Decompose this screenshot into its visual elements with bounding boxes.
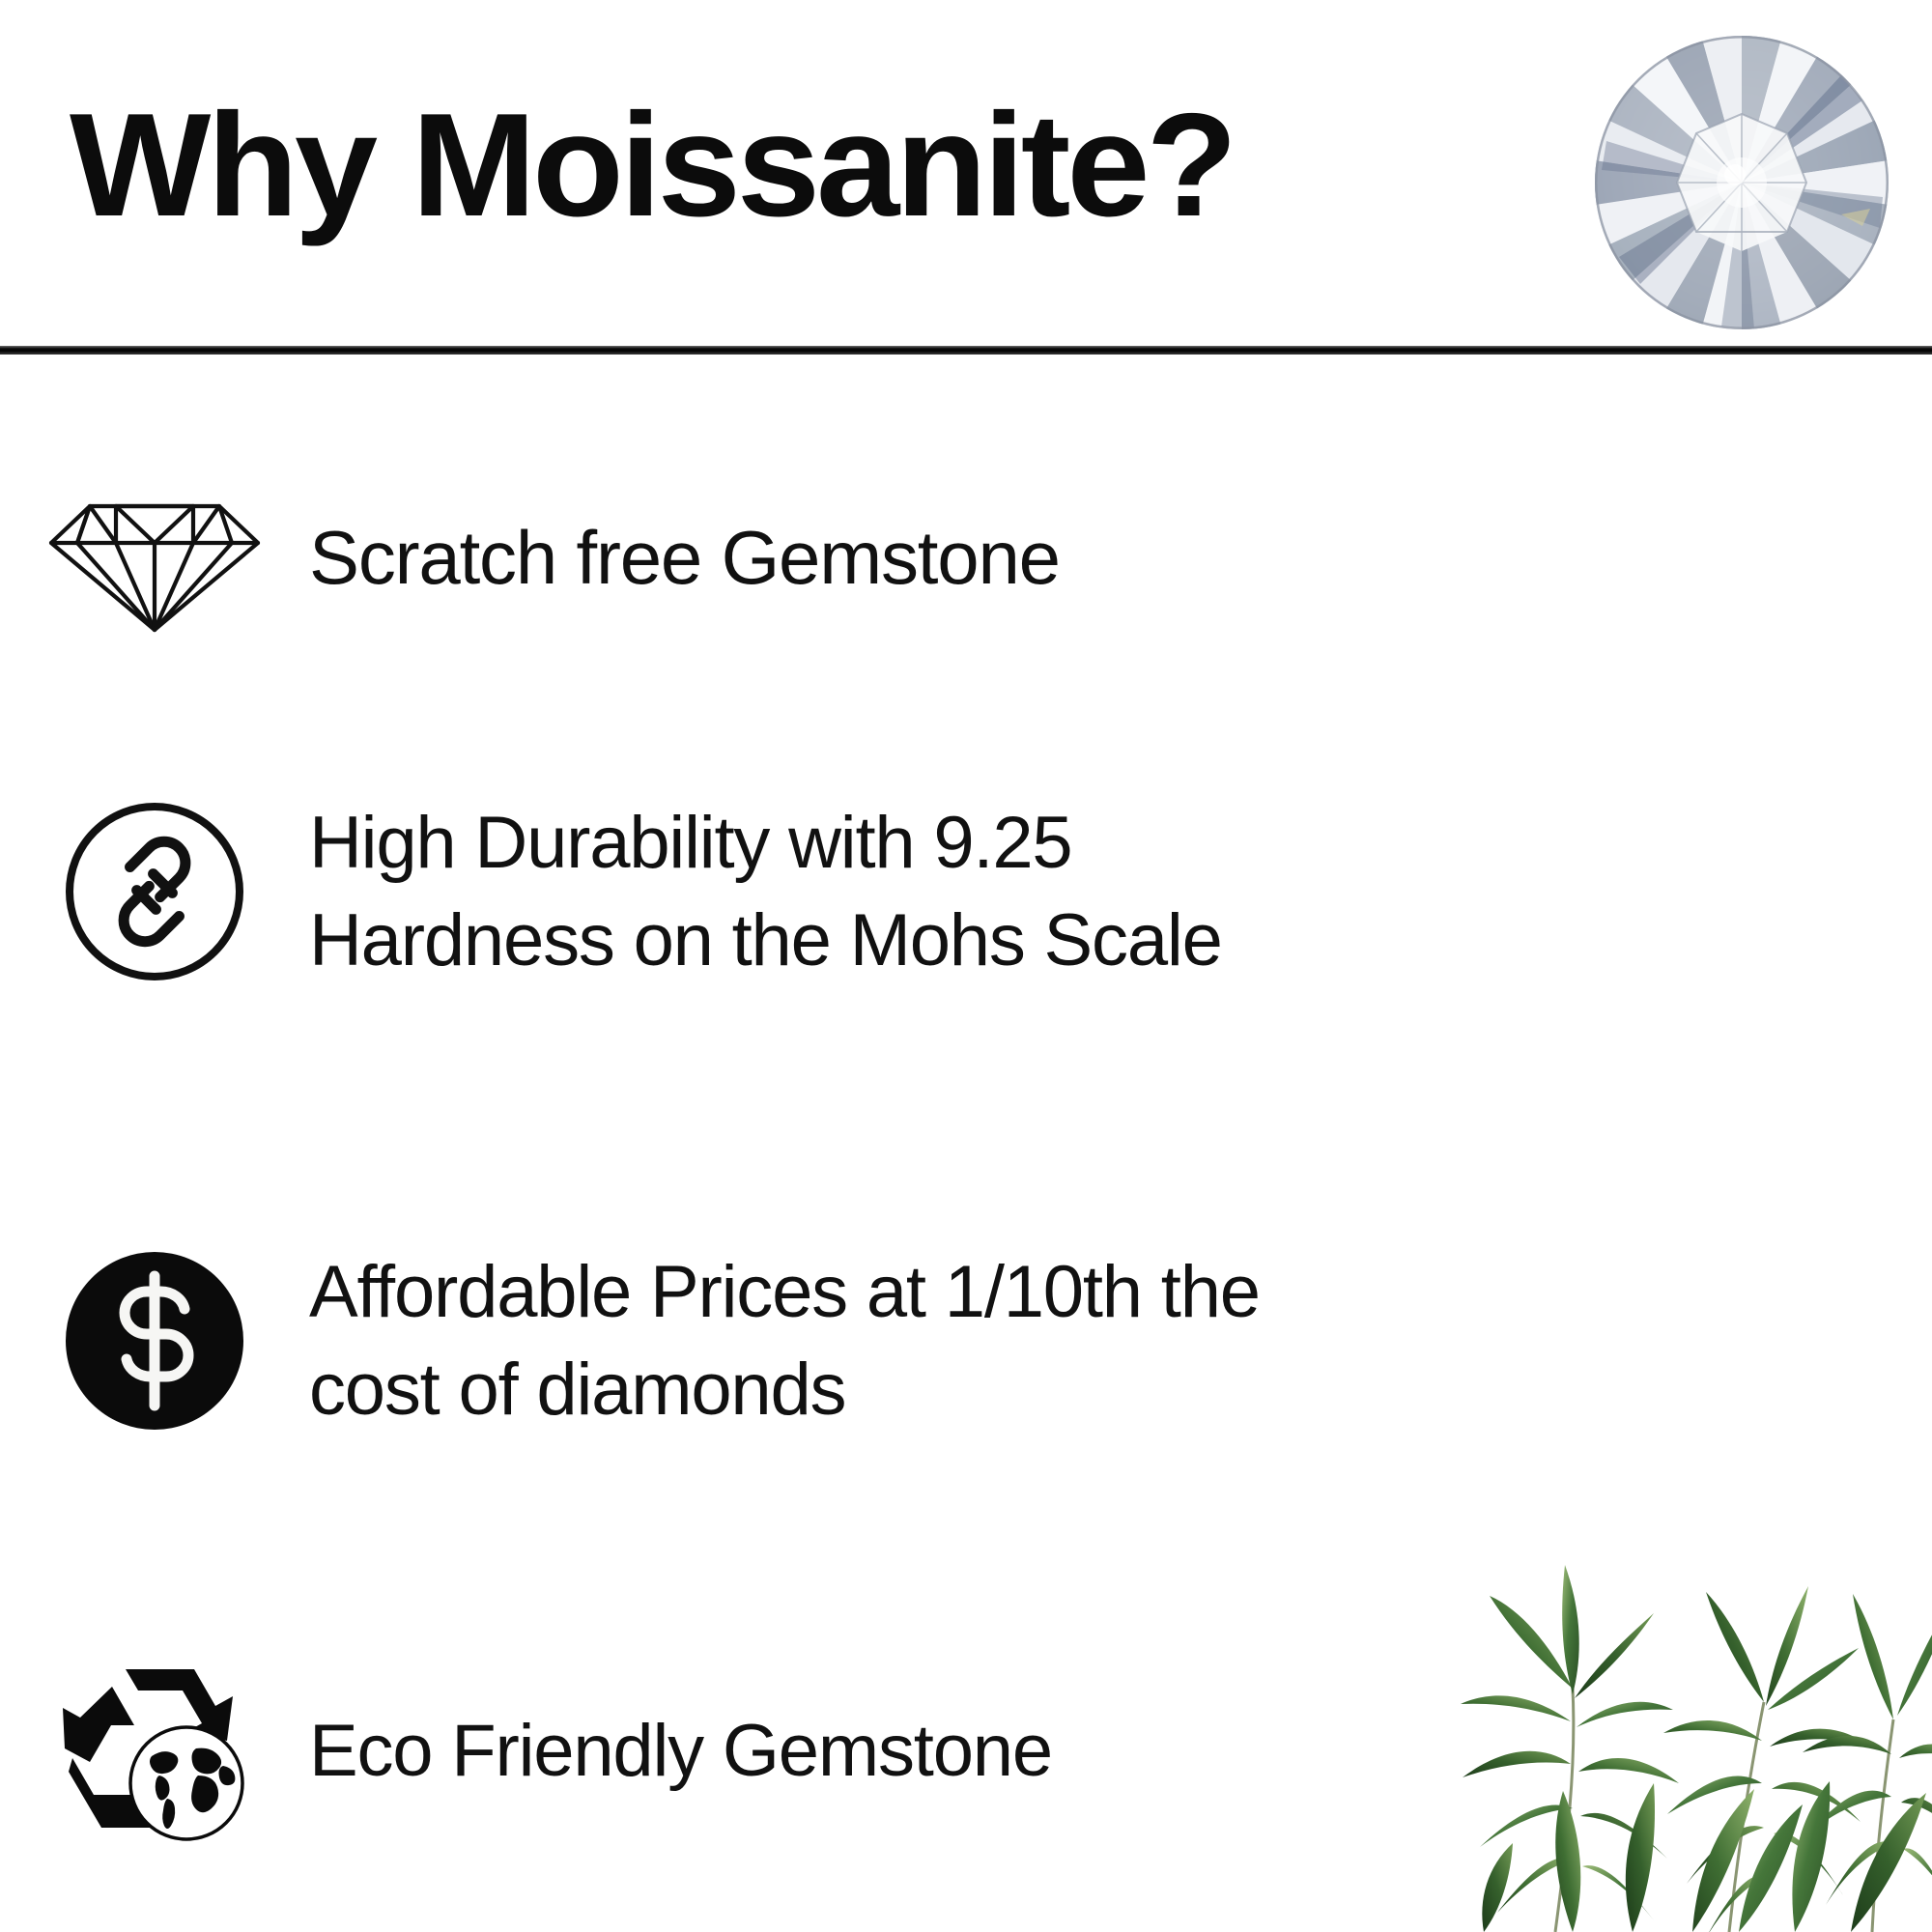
feature-icon-slot bbox=[0, 795, 309, 988]
feature-text: Scratch free Gemstone bbox=[309, 508, 1932, 609]
feature-line: cost of diamonds bbox=[309, 1341, 1893, 1438]
feature-line: Eco Friendly Gemstone bbox=[309, 1702, 1893, 1800]
feature-line: Scratch free Gemstone bbox=[309, 508, 1893, 609]
feature-line: High Durability with 9.25 bbox=[309, 794, 1893, 892]
feature-line: Hardness on the Mohs Scale bbox=[309, 892, 1893, 989]
gemstone-image bbox=[1551, 25, 1932, 344]
recycle-globe-icon bbox=[51, 1648, 259, 1856]
page-title: Why Moissanite? bbox=[70, 92, 1234, 239]
chain-link-circle-icon bbox=[58, 795, 251, 988]
header: Why Moissanite? bbox=[0, 0, 1932, 351]
feature-text: High Durability with 9.25 Hardness on th… bbox=[309, 794, 1932, 989]
feature-icon-slot bbox=[0, 1648, 309, 1856]
feature-icon-slot bbox=[0, 481, 309, 636]
feature-text: Affordable Prices at 1/10th the cost of … bbox=[309, 1243, 1932, 1438]
dollar-coin-icon bbox=[63, 1249, 246, 1433]
infographic-canvas: Why Moissanite? bbox=[0, 0, 1932, 1932]
feature-list: Scratch free Gemstone bbox=[0, 351, 1932, 1932]
feature-line: Affordable Prices at 1/10th the bbox=[309, 1243, 1893, 1341]
feature-item-scratch-free: Scratch free Gemstone bbox=[0, 413, 1932, 703]
diamond-outline-icon bbox=[43, 481, 266, 636]
feature-item-affordable: Affordable Prices at 1/10th the cost of … bbox=[0, 1181, 1932, 1500]
feature-item-eco-friendly: Eco Friendly Gemstone bbox=[0, 1592, 1932, 1911]
feature-text: Eco Friendly Gemstone bbox=[309, 1702, 1932, 1800]
feature-item-durability: High Durability with 9.25 Hardness on th… bbox=[0, 732, 1932, 1051]
feature-icon-slot bbox=[0, 1249, 309, 1433]
